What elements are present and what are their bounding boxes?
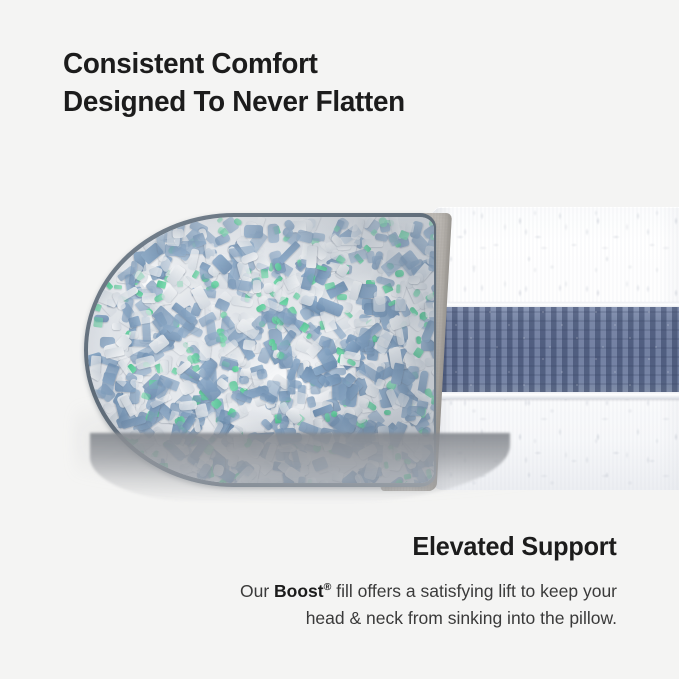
foam-chunk [135, 355, 156, 370]
foam-chunk [94, 317, 104, 328]
foam-chunk [407, 405, 425, 415]
foam-chunk [261, 268, 269, 278]
headline: Consistent Comfort Designed To Never Fla… [63, 45, 601, 122]
foam-chunk [242, 339, 255, 351]
foam-chunk [428, 251, 434, 272]
pillow-product-image: CORE CORE [84, 205, 679, 495]
body-prefix: Our [240, 581, 274, 601]
foam-chunk [263, 282, 273, 294]
foam-chunk [405, 223, 415, 233]
foam-chunk [306, 396, 316, 408]
foam-chunk [433, 416, 434, 428]
product-feature-canvas: Consistent Comfort Designed To Never Fla… [0, 0, 679, 679]
foam-chunk [394, 298, 405, 311]
foam-chunk [160, 360, 168, 374]
foam-chunk [156, 280, 166, 289]
feature-subhead: Elevated Support [413, 531, 617, 562]
feature-body-copy: Our Boost® fill offers a satisfying lift… [197, 578, 617, 632]
foam-chunk [112, 323, 121, 330]
foam-chunk [350, 217, 364, 240]
foam-chunk [243, 225, 262, 238]
foam-chunk [407, 276, 419, 284]
foam-chunk [267, 223, 279, 243]
mesh-speckle-texture [430, 307, 679, 393]
foam-chunk [337, 294, 347, 300]
foam-chunk [431, 396, 434, 405]
foam-chunk [431, 364, 434, 381]
foam-chunk [114, 285, 122, 290]
foam-chunk [255, 368, 267, 380]
body-rest: fill offers a satisfying lift to keep yo… [306, 581, 617, 628]
pillow-mesh-gusset-band [430, 307, 679, 393]
foam-chunk [179, 400, 198, 411]
foam-chunk [373, 296, 385, 311]
foam-chunk [407, 366, 419, 380]
foam-chunk [264, 380, 280, 402]
brand-name: Boost [274, 581, 324, 601]
foam-chunk [288, 370, 296, 395]
foam-chunk [128, 315, 141, 327]
foam-chunk [173, 228, 184, 237]
foam-chunk [384, 409, 391, 414]
foam-chunk [312, 232, 326, 241]
foam-chunk [396, 284, 400, 293]
foam-chunk [284, 313, 297, 326]
foam-chunk [253, 280, 262, 293]
gusset-piping-bottom [430, 392, 679, 399]
foam-chunk [272, 343, 277, 350]
foam-chunk [104, 281, 113, 290]
